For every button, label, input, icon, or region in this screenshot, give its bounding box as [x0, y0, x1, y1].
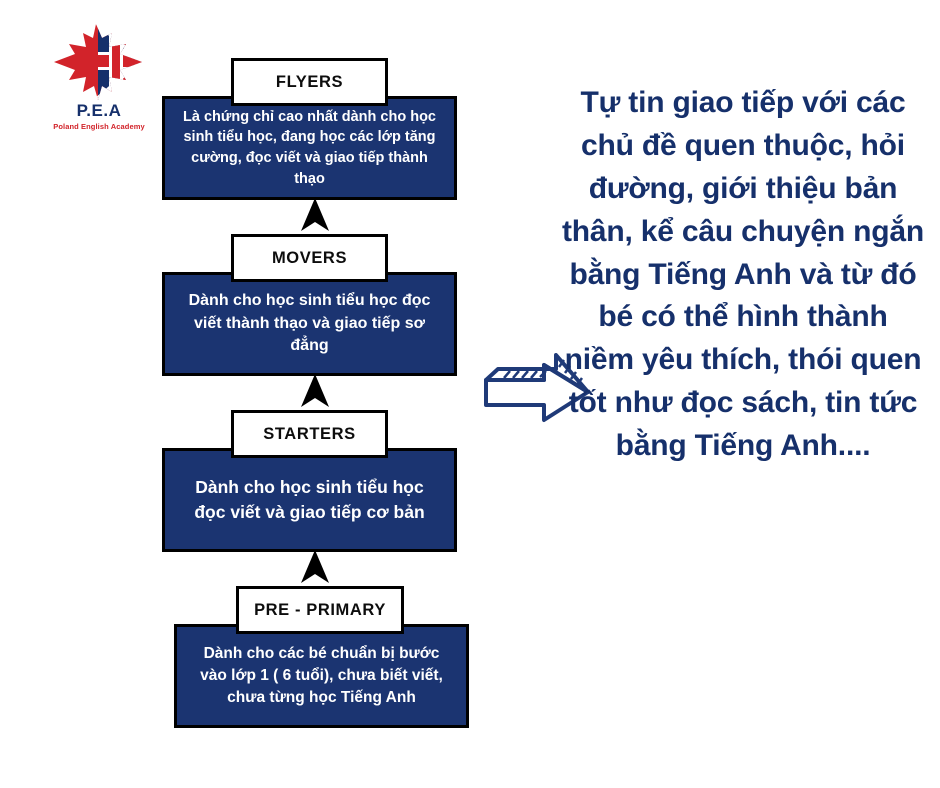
- certification-ladder-diagram: Là chứng chỉ cao nhất dành cho học sinh …: [0, 0, 500, 788]
- level-starters-label: STARTERS: [231, 410, 388, 458]
- up-arrow-icon: [300, 550, 330, 584]
- level-movers-body: Dành cho học sinh tiểu học đọc viết thàn…: [162, 272, 457, 376]
- level-movers-description: Dành cho học sinh tiểu học đọc viết thàn…: [179, 290, 440, 358]
- level-flyers-label: FLYERS: [231, 58, 388, 106]
- level-pre-primary-label: PRE - PRIMARY: [236, 586, 404, 634]
- level-pre-primary-description: Dành cho các bé chuẩn bị bước vào lớp 1 …: [191, 643, 452, 709]
- level-starters-description: Dành cho học sinh tiểu học đọc viết và g…: [179, 475, 440, 525]
- level-movers-label: MOVERS: [231, 234, 388, 282]
- level-pre-primary-body: Dành cho các bé chuẩn bị bước vào lớp 1 …: [174, 624, 469, 728]
- level-flyers-description: Là chứng chỉ cao nhất dành cho học sinh …: [179, 107, 440, 189]
- up-arrow-icon: [300, 198, 330, 232]
- level-starters-body: Dành cho học sinh tiểu học đọc viết và g…: [162, 448, 457, 552]
- level-flyers-body: Là chứng chỉ cao nhất dành cho học sinh …: [162, 96, 457, 200]
- up-arrow-icon: [300, 374, 330, 408]
- benefit-statement: Tự tin giao tiếp với các chủ đề quen thu…: [560, 82, 926, 468]
